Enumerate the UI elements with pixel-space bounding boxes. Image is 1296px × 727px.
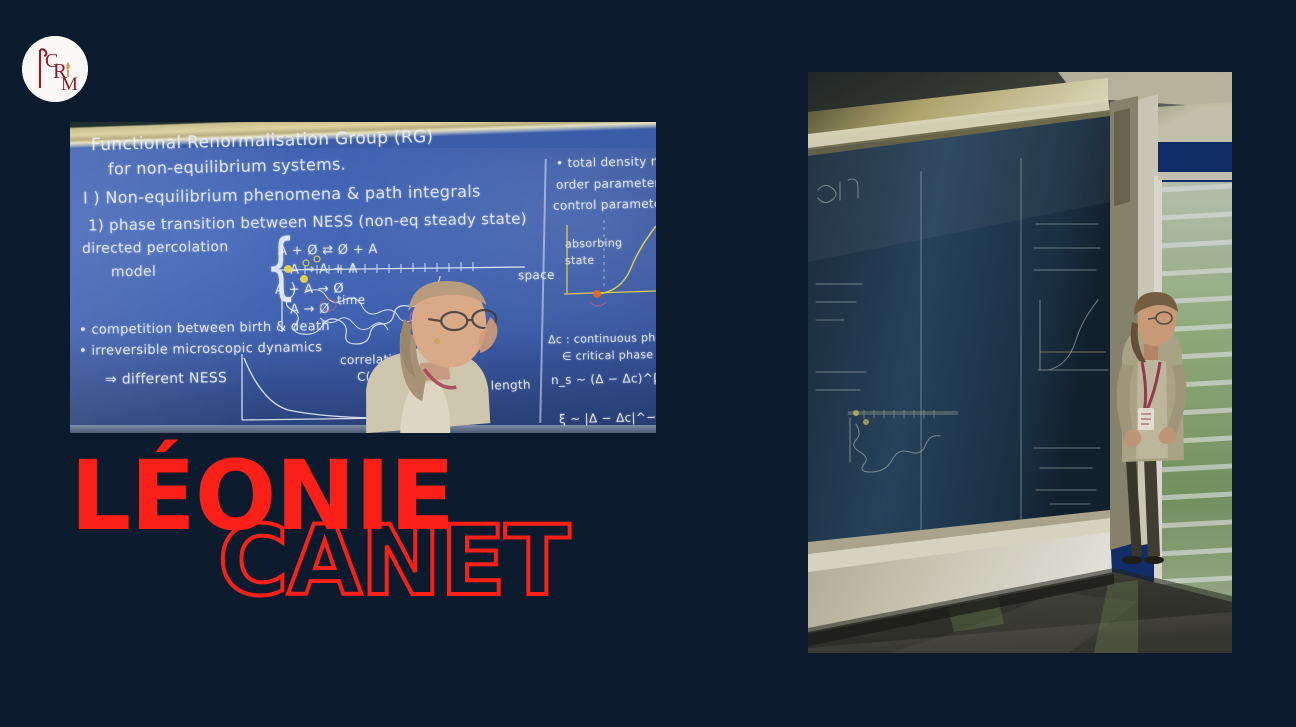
speaker-last-name: CANET xyxy=(218,520,569,603)
crm-logo-graphic: C R M xyxy=(22,36,88,102)
svg-text:M: M xyxy=(61,74,78,95)
crm-logo: C R M xyxy=(22,36,88,102)
photo-lecturer-at-blackboard: Functional Renormalisation Group (RG) fo… xyxy=(70,122,656,433)
presentation-slide: C R M Functional Renormalisation Group (… xyxy=(0,0,1296,727)
photo-lecture-hall xyxy=(808,72,1232,653)
lecture-hall-scene xyxy=(808,72,1232,653)
speaker-name-title: LÉONIE CANET xyxy=(70,455,569,602)
lecturer-figure-left xyxy=(304,259,538,433)
